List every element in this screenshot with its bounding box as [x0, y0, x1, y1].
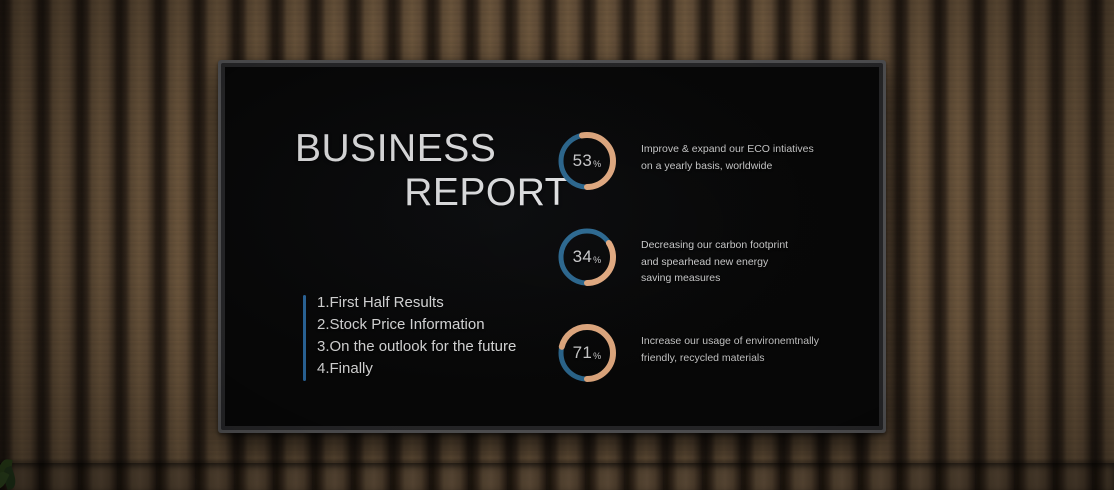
scene-vignette: [0, 0, 1114, 490]
presentation-scene: BUSINESS REPORT 1.First Half Results 2.S…: [0, 0, 1114, 490]
